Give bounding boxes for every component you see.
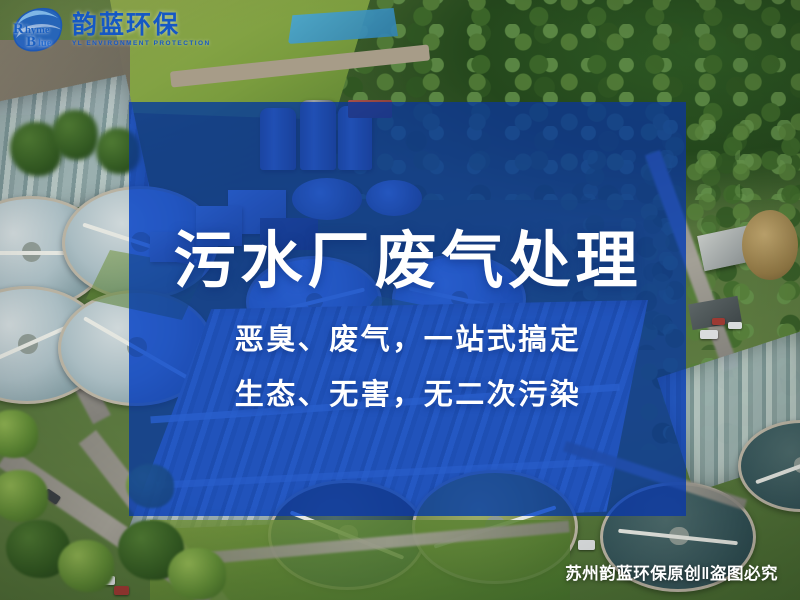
poster-canvas: R hyme B lue 韵蓝环保 YL ENVIRONMENT PROTECT… <box>0 0 800 600</box>
copyright-watermark: 苏州韵蓝环保原创‖盗图必究 <box>565 560 778 584</box>
logo-letter-r: R <box>13 21 24 38</box>
subtitle-line-1: 恶臭、废气，一站式搞定 <box>8 316 800 358</box>
brand-name-block: 韵蓝环保 YL ENVIRONMENT PROTECTION <box>72 13 211 48</box>
blue-overlay-panel-tint <box>129 102 686 516</box>
page-title: 污水厂废气处理 <box>8 210 800 300</box>
logo-word-lue: lue <box>38 38 51 49</box>
brand-name-cn: 韵蓝环保 <box>72 13 211 38</box>
logo-letter-b: B <box>26 34 36 51</box>
brand-name-en: YL ENVIRONMENT PROTECTION <box>72 41 211 48</box>
subtitle-line-2: 生态、无害，无二次污染 <box>8 371 800 413</box>
rhyme-blue-droplet-icon: R hyme B lue <box>8 4 66 56</box>
brand-logo[interactable]: R hyme B lue 韵蓝环保 YL ENVIRONMENT PROTECT… <box>8 4 211 56</box>
